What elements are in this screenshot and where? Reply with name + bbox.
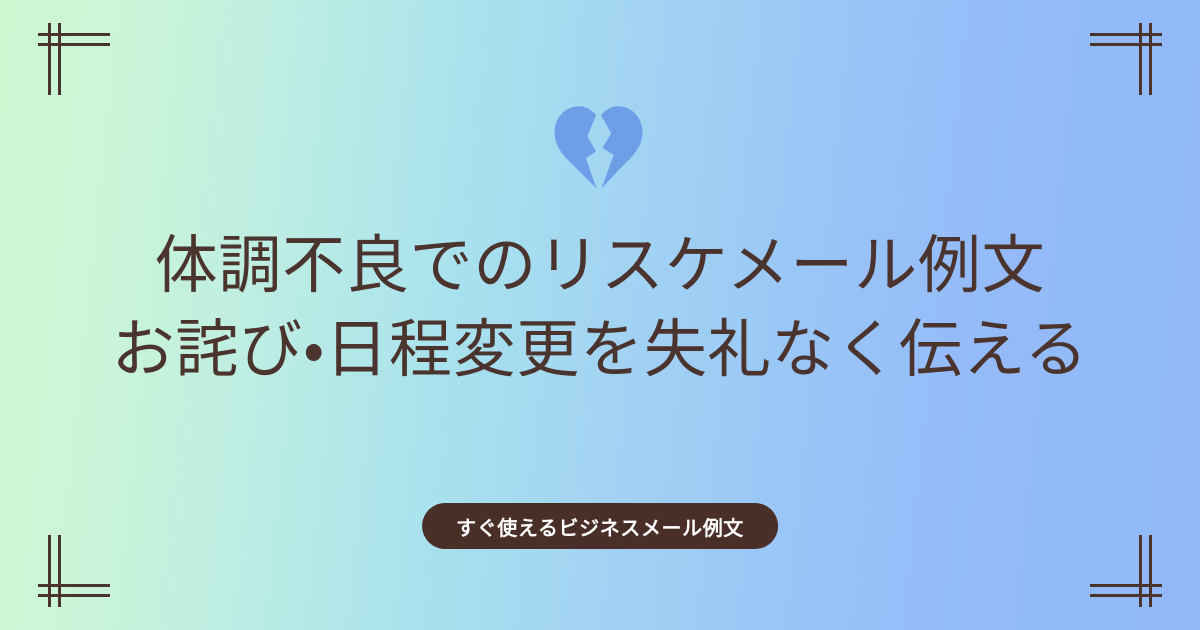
- broken-heart-icon: [552, 104, 648, 190]
- category-badge: すぐ使えるビジネスメール例文: [422, 503, 778, 549]
- title-line-2: お詫び・日程変更を失礼なく伝える: [112, 308, 1089, 392]
- ogp-card: 体調不良でのリスケメール例文 お詫び・日程変更を失礼なく伝える すぐ使えるビジネ…: [0, 0, 1200, 630]
- title-line-1: 体調不良でのリスケメール例文: [112, 224, 1089, 308]
- page-title: 体調不良でのリスケメール例文 お詫び・日程変更を失礼なく伝える: [112, 224, 1089, 393]
